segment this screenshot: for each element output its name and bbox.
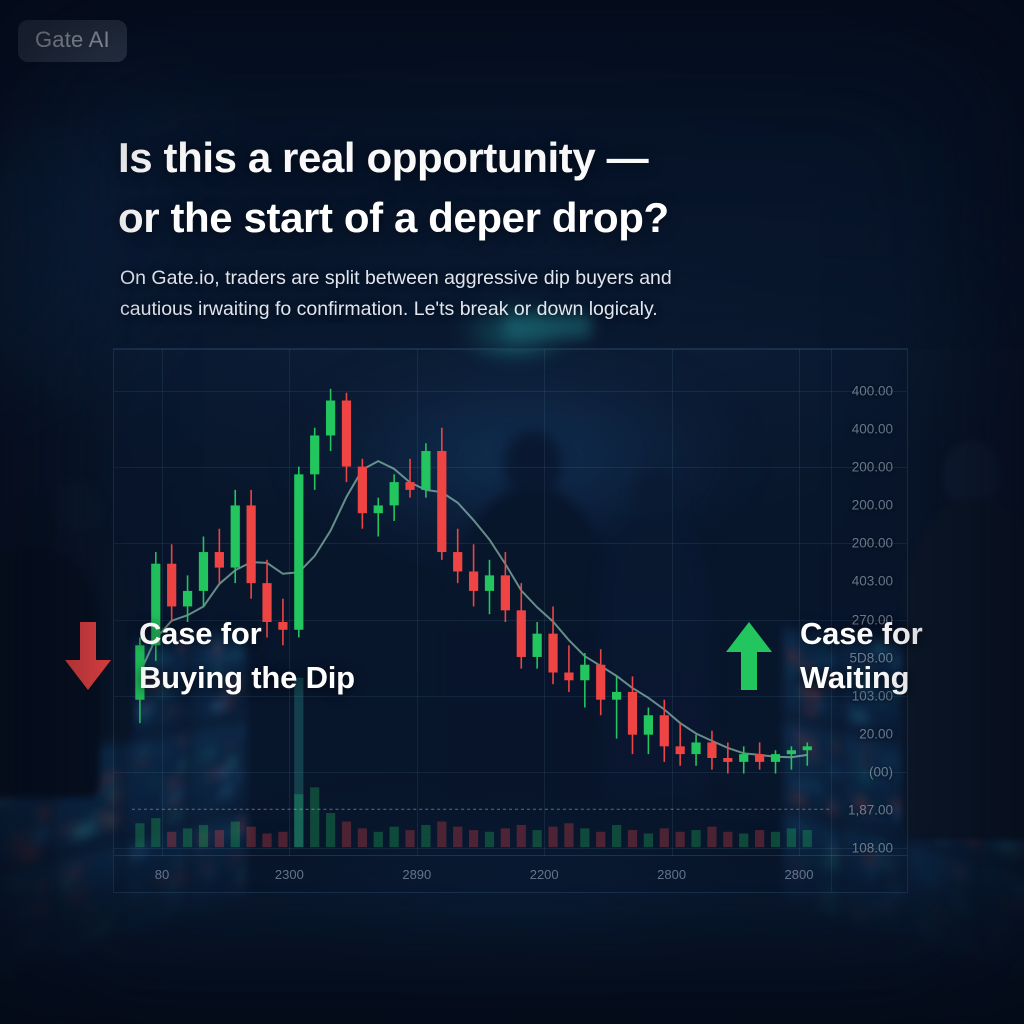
page-subtitle-line-1: On Gate.io, traders are split between ag… <box>120 267 672 289</box>
volume-bar <box>501 828 510 847</box>
volume-bar <box>517 825 526 847</box>
volume-bar <box>151 818 160 847</box>
x-axis-tick-label: 2890 <box>402 867 431 882</box>
volume-bar <box>660 828 669 847</box>
volume-bar <box>771 832 780 847</box>
callout-waiting-line-2: Waiting <box>800 656 922 700</box>
x-axis-tick-label: 2200 <box>530 867 559 882</box>
candle-body <box>533 634 542 657</box>
volume-bar <box>183 828 192 847</box>
volume-bar <box>278 832 287 847</box>
y-axis-tick-label: 20.00 <box>859 726 893 741</box>
volume-bar <box>358 828 367 847</box>
callout-buy-line-1: Case for <box>139 616 261 651</box>
candle-body <box>628 692 637 735</box>
callout-waiting[interactable]: Case for Waiting <box>716 612 922 700</box>
volume-bar <box>612 825 621 847</box>
volume-bar <box>374 832 383 847</box>
y-axis-tick-label: 200.00 <box>852 498 893 513</box>
volume-bar <box>390 827 399 847</box>
volume-bar <box>596 832 605 847</box>
candle-body <box>548 634 557 673</box>
volume-bar <box>167 832 176 847</box>
volume-bar <box>231 822 240 848</box>
candle-body <box>787 750 796 754</box>
volume-bar <box>628 830 637 847</box>
volume-bar <box>707 827 716 847</box>
page-subtitle-line-2: cautious irwaiting fo confirmation. Le't… <box>120 294 840 326</box>
candle-body <box>405 482 414 490</box>
volume-bar <box>453 827 462 847</box>
candle-body <box>723 758 732 762</box>
candle-body <box>755 754 764 762</box>
candle-body <box>167 564 176 607</box>
volume-bar <box>215 830 224 847</box>
candle-body <box>374 505 383 513</box>
moving-average-line <box>140 461 807 757</box>
volume-bar <box>294 678 303 847</box>
volume-bar <box>469 830 478 847</box>
candle-body <box>564 673 573 681</box>
volume-bar <box>564 823 573 847</box>
volume-bar <box>580 828 589 847</box>
y-axis-tick-label: 1,87.00 <box>848 802 893 817</box>
y-axis-tick-label: 108.00 <box>852 841 893 856</box>
candle-body <box>803 746 812 750</box>
x-axis-tick-label: 80 <box>155 867 169 882</box>
volume-bar <box>135 823 144 847</box>
callout-buy-the-dip[interactable]: Case for Buying the Dip <box>55 612 355 700</box>
candle-body <box>453 552 462 571</box>
candle-body <box>310 435 319 474</box>
y-axis-tick-label: 403.00 <box>852 574 893 589</box>
candle-body <box>580 665 589 681</box>
candle-body <box>215 552 224 568</box>
volume-bar <box>755 830 764 847</box>
candle-body <box>199 552 208 591</box>
y-axis-tick-label: 400.00 <box>852 384 893 399</box>
arrow-up-icon <box>716 620 782 692</box>
volume-bar <box>199 825 208 847</box>
gate-ai-badge[interactable]: Gate AI <box>18 20 127 62</box>
candle-body <box>644 715 653 734</box>
volume-bar <box>723 832 732 847</box>
candle-body <box>676 746 685 754</box>
y-axis-tick-label: 400.00 <box>852 422 893 437</box>
volume-bar <box>262 834 271 848</box>
callout-buy-the-dip-text: Case for Buying the Dip <box>139 612 355 700</box>
candle-body <box>691 742 700 754</box>
candle-body <box>771 754 780 762</box>
candle-body <box>342 401 351 467</box>
page-title: Is this a real opportunity — or the star… <box>118 128 938 247</box>
volume-bar <box>342 822 351 848</box>
candle-body <box>326 401 335 436</box>
candle-body <box>660 715 669 746</box>
candle-body <box>421 451 430 490</box>
silhouette-right-near <box>905 440 1024 840</box>
page-title-line-1: Is this a real opportunity — <box>118 134 648 181</box>
volume-bar <box>676 832 685 847</box>
y-axis-tick-label: (00) <box>869 764 893 779</box>
candle-body <box>612 692 621 700</box>
volume-bar <box>533 830 542 847</box>
candle-body <box>183 591 192 607</box>
volume-bar <box>803 830 812 847</box>
volume-bar <box>437 822 446 848</box>
volume-bar <box>247 827 256 847</box>
candle-body <box>358 467 367 514</box>
callout-waiting-line-1: Case for <box>800 616 922 651</box>
volume-bar <box>421 825 430 847</box>
x-axis-tick-label: 2800 <box>785 867 814 882</box>
y-axis-tick-label: 200.00 <box>852 460 893 475</box>
page-title-line-2: or the start of a deper drop? <box>118 188 938 248</box>
callout-waiting-text: Case for Waiting <box>800 612 922 700</box>
candle-body <box>596 665 605 700</box>
poster-canvas: Gate AI Is this a real opportunity — or … <box>0 0 1024 1024</box>
x-axis-tick-label: 2300 <box>275 867 304 882</box>
volume-bar <box>787 828 796 847</box>
candle-body <box>437 451 446 552</box>
candle-body <box>739 754 748 762</box>
candle-body <box>390 482 399 505</box>
arrow-down-icon <box>55 620 121 692</box>
volume-bar <box>739 834 748 848</box>
candle-body <box>517 610 526 657</box>
page-subtitle: On Gate.io, traders are split between ag… <box>120 263 840 326</box>
candle-body <box>485 575 494 591</box>
volume-bar <box>644 834 653 848</box>
volume-bar <box>326 813 335 847</box>
callout-buy-line-2: Buying the Dip <box>139 656 355 700</box>
candle-body <box>469 571 478 590</box>
volume-bar <box>405 830 414 847</box>
volume-bar <box>310 787 319 847</box>
gate-ai-badge-label: Gate AI <box>35 27 110 52</box>
candle-body <box>231 505 240 567</box>
volume-bar <box>485 832 494 847</box>
candle-body <box>707 742 716 758</box>
x-axis-tick-label: 2800 <box>657 867 686 882</box>
candle-body <box>294 474 303 629</box>
candle-body <box>501 575 510 610</box>
y-axis-tick-label: 200.00 <box>852 536 893 551</box>
volume-bar <box>691 830 700 847</box>
volume-bar <box>548 827 557 847</box>
candle-body <box>247 505 256 583</box>
